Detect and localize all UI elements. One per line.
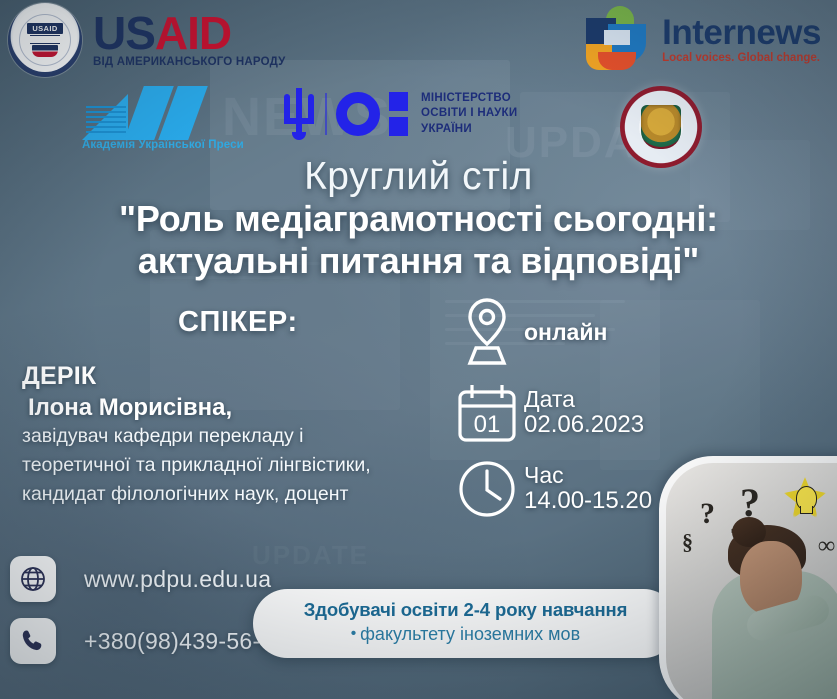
academy-of-ukrainian-press-logo: Академія Української Преси xyxy=(82,84,262,151)
partner-logos: USAID USAID ВІД АМЕРИКАНСЬКОГО НАРОДУ xyxy=(0,0,837,82)
title-line-2: актуальні питання та відповіді" xyxy=(20,240,817,282)
contact-block: www.pdpu.edu.ua +380(98)439-56-00 xyxy=(10,556,287,680)
ministry-divider xyxy=(325,93,327,135)
title-line-1: "Роль медіаграмотності сьогодні: xyxy=(20,198,817,240)
event-date-value: 02.06.2023 xyxy=(524,412,644,439)
usaid-logo: USAID USAID ВІД АМЕРИКАНСЬКОГО НАРОДУ xyxy=(8,3,285,77)
usaid-seal-icon: USAID xyxy=(8,3,82,77)
calendar-icon: 01 xyxy=(450,382,524,444)
ukrainian-trident-icon xyxy=(282,88,316,140)
event-poster: NEWS UPDATE UPDATE USAID USAID xyxy=(0,0,837,699)
svg-text:01: 01 xyxy=(474,411,501,438)
website-row[interactable]: www.pdpu.edu.ua xyxy=(10,556,287,602)
phone-row[interactable]: +380(98)439-56-00 xyxy=(10,618,287,664)
event-date-row: 01 Дата 02.06.2023 xyxy=(450,382,710,444)
clock-icon xyxy=(450,458,524,520)
handshake-icon xyxy=(30,35,60,44)
audience-badge: Здобувачі освіти 2-4 року навчання •факу… xyxy=(253,589,678,658)
website-value[interactable]: www.pdpu.edu.ua xyxy=(84,566,271,593)
ministry-line-2: ОСВІТИ І НАУКИ xyxy=(421,106,517,122)
audience-badge-item-row: •факультету іноземних мов xyxy=(273,624,658,645)
usaid-word-us: US xyxy=(93,7,155,59)
question-mark-doodle: ? xyxy=(700,497,715,531)
event-kicker: Круглий стіл xyxy=(0,155,837,199)
ministry-name: МІНІСТЕРСТВО ОСВІТИ І НАУКИ УКРАЇНИ xyxy=(421,91,517,138)
page-title: "Роль медіаграмотності сьогодні: актуаль… xyxy=(20,198,817,282)
audience-badge-bullet: • xyxy=(351,625,356,642)
ministry-colon-icon xyxy=(389,92,408,136)
ministry-of-education-logo: МІНІСТЕРСТВО ОСВІТИ І НАУКИ УКРАЇНИ xyxy=(282,88,517,140)
internews-logo: Internews Local voices. Global change. xyxy=(584,6,821,72)
audience-badge-title: Здобувачі освіти 2-4 року навчання xyxy=(273,599,658,621)
speaker-surname: ДЕРІК xyxy=(22,362,462,391)
thinking-woman-photo: ? ? ? § ∂ ∞ xyxy=(659,456,837,699)
globe-icon xyxy=(10,556,56,602)
event-date-label: Дата xyxy=(524,387,644,413)
ministry-line-3: УКРАЇНИ xyxy=(421,122,517,138)
usaid-tagline: ВІД АМЕРИКАНСЬКОГО НАРОДУ xyxy=(93,56,285,68)
usaid-seal-label: USAID xyxy=(27,23,62,34)
internews-name: Internews xyxy=(662,15,821,50)
phone-icon xyxy=(10,618,56,664)
lightbulb-icon xyxy=(784,477,826,519)
ministry-o-icon xyxy=(336,92,380,136)
event-format-value: онлайн xyxy=(524,319,607,346)
event-time-value: 14.00-15.20 xyxy=(524,488,652,515)
event-time-label: Час xyxy=(524,463,652,489)
speaker-heading: СПІКЕР: xyxy=(178,306,298,339)
usaid-word-aid: AID xyxy=(155,7,231,59)
internews-tagline: Local voices. Global change. xyxy=(662,52,821,64)
squiggle-doodle: § xyxy=(682,529,693,555)
event-time-text: Час 14.00-15.20 xyxy=(524,463,652,516)
internews-mark-icon xyxy=(584,6,650,72)
event-date-text: Дата 02.06.2023 xyxy=(524,387,644,440)
squiggle-doodle: ∞ xyxy=(818,533,835,560)
location-pin-icon xyxy=(450,296,524,368)
speaker-position-line-1: завідувач кафедри перекладу і xyxy=(22,424,462,450)
ministry-line-1: МІНІСТЕРСТВО xyxy=(421,91,517,107)
shield-icon xyxy=(32,45,58,57)
speaker-position-line-3: кандидат філологічних наук, доцент xyxy=(22,482,462,508)
speaker-given-name: Ілона Морисівна, xyxy=(22,394,462,422)
audience-badge-item: факультету іноземних мов xyxy=(360,624,580,644)
academy-mark-icon xyxy=(82,84,262,142)
speaker-details: ДЕРІК Ілона Морисівна, завідувач кафедри… xyxy=(22,362,462,508)
event-format-row: онлайн xyxy=(450,296,710,368)
speaker-position-line-2: теоретичної та прикладної лінгвістики, xyxy=(22,453,462,479)
